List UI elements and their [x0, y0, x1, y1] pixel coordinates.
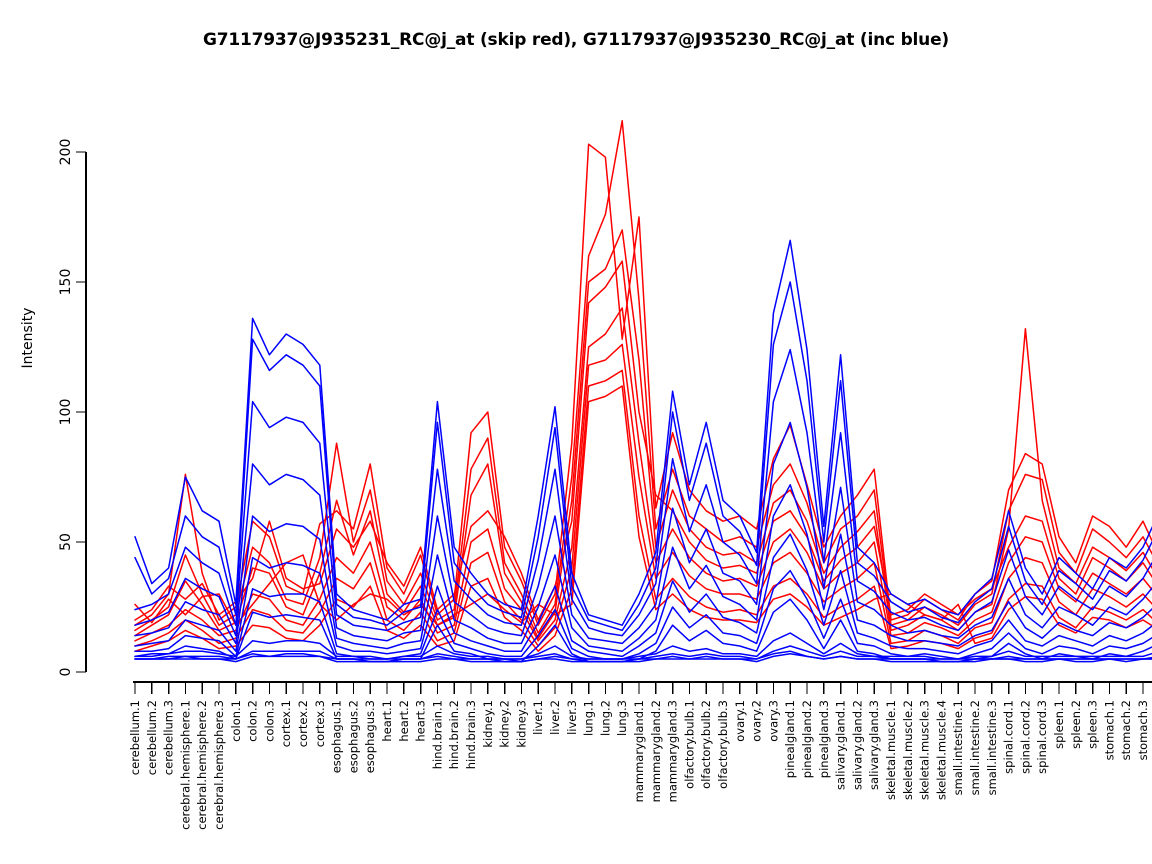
x-tick-label: colon.3 [262, 700, 276, 742]
x-tick-label: stomach.1 [1102, 700, 1116, 760]
x-tick-label: pinealgland.2 [800, 700, 814, 778]
x-tick-label: spinal.cord.1 [1002, 700, 1016, 774]
x-tick-label: kidney.2 [498, 700, 512, 748]
x-tick-label: skeletal.muscle.1 [884, 700, 898, 800]
x-tick-label: olfactory.bulb.2 [699, 700, 713, 789]
plot-canvas: 050100150200 cerebellum.1cerebellum.2cer… [0, 0, 1152, 864]
x-tick-label: skeletal.muscle.3 [918, 700, 932, 800]
x-tick-label: pinealgland.1 [783, 700, 797, 778]
x-tick-label: pinealgland.3 [817, 700, 831, 778]
y-tick-label: 150 [58, 269, 74, 296]
series-lines [135, 121, 1152, 662]
series-line [135, 630, 1152, 659]
x-tick-label: kidney.1 [481, 700, 495, 748]
x-tick-label: esophagus.1 [330, 700, 344, 773]
x-tick-label: small.intestine.1 [951, 700, 965, 795]
x-tick-label: cerebral.hemisphere.1 [178, 700, 192, 830]
x-tick-label: mammarygland.2 [649, 700, 663, 802]
x-tick-label: lung.3 [615, 700, 629, 736]
x-tick-label: cortex.1 [279, 700, 293, 747]
x-tick-label: esophagus.2 [346, 700, 360, 773]
y-tick-label: 200 [58, 139, 74, 166]
series-line [135, 256, 1152, 630]
x-tick-label: small.intestine.2 [968, 700, 982, 795]
x-tick-label: salivary.gland.1 [834, 700, 848, 790]
x-tick-label: small.intestine.3 [985, 700, 999, 795]
series-line [135, 261, 1152, 620]
x-tick-label: skeletal.muscle.4 [934, 700, 948, 800]
x-tick-label: stomach.3 [1136, 700, 1150, 760]
x-tick-label: lung.2 [598, 700, 612, 736]
x-tick-label: spleen.2 [1069, 700, 1083, 749]
x-tick-label: ovary.1 [733, 700, 747, 742]
x-tick-label: mammarygland.3 [666, 700, 680, 802]
x-tick-label: liver.2 [548, 700, 562, 735]
x-tick-label: stomach.2 [1119, 700, 1133, 760]
x-tick-label: spinal.cord.2 [1018, 700, 1032, 774]
x-tick-label: mammarygland.1 [632, 700, 646, 802]
x-tick-label: liver.1 [531, 700, 545, 735]
x-tick-label: hind.brain.3 [464, 700, 478, 769]
x-tick-label: lung.1 [582, 700, 596, 736]
x-tick-label: liver.3 [565, 700, 579, 735]
x-tick-label: colon.2 [246, 700, 260, 742]
x-tick-label: cerebellum.1 [128, 700, 142, 775]
y-axis: 050100150200 [58, 139, 86, 677]
y-tick-label: 100 [58, 399, 74, 426]
x-tick-label: heart.3 [414, 700, 428, 742]
x-tick-label: heart.2 [397, 700, 411, 742]
x-tick-label: skeletal.muscle.2 [901, 700, 915, 800]
x-tick-label: kidney.3 [514, 700, 528, 748]
x-tick-label: spleen.1 [1052, 700, 1066, 749]
x-tick-label: hind.brain.2 [447, 700, 461, 769]
x-tick-label: spleen.3 [1086, 700, 1100, 749]
x-tick-label: olfactory.bulb.1 [682, 700, 696, 789]
x-tick-label: cortex.2 [296, 700, 310, 747]
x-tick-label: salivary.gland.3 [867, 700, 881, 790]
series-line [135, 412, 1152, 643]
series-line [135, 386, 1152, 643]
x-tick-label: cerebral.hemisphere.3 [212, 700, 226, 830]
x-tick-label: ovary.2 [750, 700, 764, 742]
x-tick-label: cerebral.hemisphere.2 [195, 700, 209, 830]
x-axis [133, 682, 1152, 694]
x-tick-label: ovary.3 [766, 700, 780, 742]
chart-figure: G7117937@J935231_RC@j_at (skip red), G71… [0, 0, 1152, 864]
x-tick-labels: cerebellum.1cerebellum.2cerebellum.3cere… [128, 700, 1152, 830]
x-tick-label: olfactory.bulb.3 [716, 700, 730, 789]
x-tick-label: spinal.cord.3 [1035, 700, 1049, 774]
x-tick-label: cerebellum.3 [162, 700, 176, 775]
x-tick-label: heart.1 [380, 700, 394, 742]
x-tick-label: salivary.gland.2 [850, 700, 864, 790]
x-tick-label: cortex.3 [313, 700, 327, 747]
x-tick-label: esophagus.3 [363, 700, 377, 773]
x-tick-label: hind.brain.1 [430, 700, 444, 769]
y-tick-label: 50 [58, 533, 74, 551]
x-tick-label: cerebellum.2 [145, 700, 159, 775]
y-tick-label: 0 [58, 668, 74, 677]
x-tick-label: colon.1 [229, 700, 243, 742]
